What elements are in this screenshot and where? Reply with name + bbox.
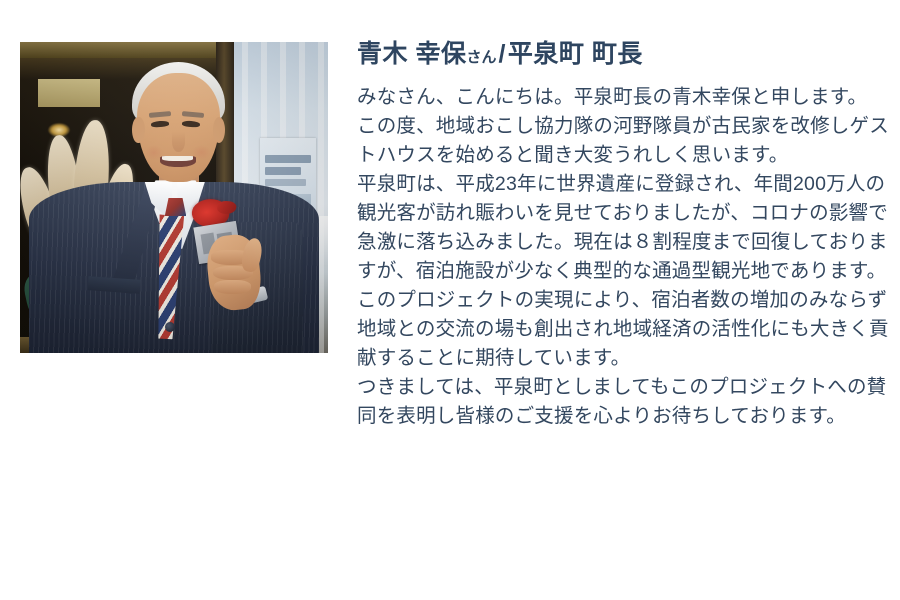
message-line: この度、地域おこし協力隊の河野隊員が古民家を改修しゲス bbox=[357, 112, 867, 141]
person-name: 青木 幸保 bbox=[357, 40, 466, 68]
nose bbox=[172, 132, 184, 152]
message-line: このプロジェクトの実現により、宿泊者数の増加のみならず bbox=[357, 286, 867, 315]
finger bbox=[214, 280, 251, 294]
title-separator: / bbox=[496, 40, 507, 68]
message-line: トハウスを始めると聞き大変うれしく思います。 bbox=[357, 141, 867, 170]
message-body: みなさん、こんにちは。平泉町長の青木幸保と申します。 この度、地域おこし協力隊の… bbox=[357, 83, 867, 431]
jacket-button bbox=[165, 322, 175, 332]
message-content: 青木 幸保さん/平泉町 町長 みなさん、こんにちは。平泉町長の青木幸保と申します… bbox=[357, 40, 867, 431]
message-line: 急激に落ち込みました。現在は８割程度まで回復しておりま bbox=[357, 228, 867, 257]
message-line: みなさん、こんにちは。平泉町長の青木幸保と申します。 bbox=[357, 83, 867, 112]
ear-left bbox=[132, 117, 144, 143]
message-line: すが、宿泊施設が少なく典型的な通過型観光地であります。 bbox=[357, 257, 867, 286]
person-title: 平泉町 町長 bbox=[508, 40, 643, 68]
message-page: 青木 幸保さん/平泉町 町長 みなさん、こんにちは。平泉町長の青木幸保と申します… bbox=[0, 0, 900, 600]
honorific-suffix: さん bbox=[466, 49, 496, 66]
photo-canvas bbox=[20, 42, 328, 353]
smiling-mouth bbox=[160, 156, 195, 167]
message-line: つきましては、平泉町としましてもこのプロジェクトへの賛 bbox=[357, 373, 867, 402]
message-line: 献することに期待しています。 bbox=[357, 344, 867, 373]
message-line: 平泉町は、平成23年に世界遺産に登録され、年間200万人の bbox=[357, 170, 867, 199]
page-title: 青木 幸保さん/平泉町 町長 bbox=[357, 40, 867, 69]
person-figure bbox=[20, 42, 328, 353]
mayor-portrait-photo bbox=[20, 42, 328, 353]
message-line: 同を表明し皆様のご支援を心よりお待ちしております。 bbox=[357, 402, 867, 431]
ear-right bbox=[213, 117, 225, 143]
message-line: 地域との交流の場も創出され地域経済の活性化にも大きく貢 bbox=[357, 315, 867, 344]
message-line: 観光客が訪れ賑わいを見せておりましたが、コロナの影響で bbox=[357, 199, 867, 228]
